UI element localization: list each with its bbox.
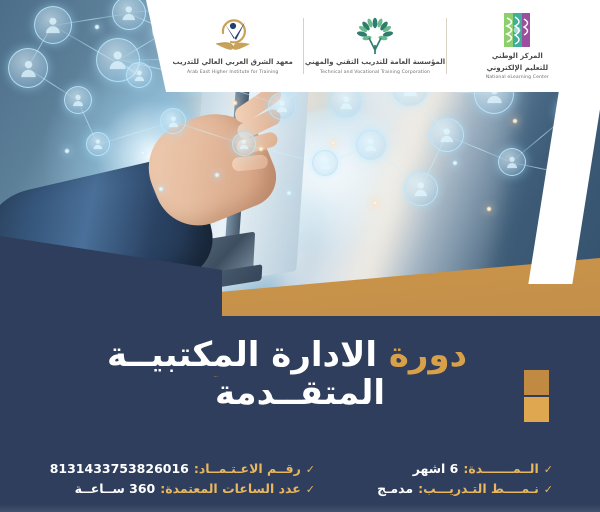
info-label: الــمـــــــدة: [463,461,538,476]
national-elearning-center-logo-icon [500,11,534,49]
course-title-accent-word: دورة [389,335,467,375]
logo-national-elearning-center: المركز الوطني للتعليم الإلكتروني Nationa… [447,0,588,92]
course-title-line-1-rest: الادارة المكتبيــة [107,335,377,375]
light-spark [64,148,70,154]
logo-divider [446,18,447,74]
network-link [371,144,422,189]
course-poster: المركز الوطني للتعليم الإلكتروني Nationa… [0,0,600,512]
info-label: رقــم الاعـتـمــاد: [194,461,301,476]
light-spark [286,190,292,196]
logo-arab-east-institute: معهد الشرق العربي العالي للتدريب Arab Ea… [162,0,303,92]
logo-name-en: National eLearning Center [486,75,549,81]
network-link [98,121,173,145]
light-spark [258,146,264,152]
logo-tvtc: المؤسسة العامة للتدريب التقني والمهني Te… [304,0,445,92]
light-spark [158,186,164,192]
light-spark [140,150,146,156]
course-title: دورة الادارة المكتبيــة المتقــدمة [0,336,600,413]
check-icon: ✓ [544,463,553,476]
check-icon: ✓ [544,483,553,496]
logo-name-ar: المؤسسة العامة للتدريب التقني والمهني [305,58,445,67]
network-link [409,88,447,136]
logo-name-en: Arab East Higher Institute for Training [187,70,278,76]
light-spark [214,172,220,178]
info-value: مدمـج [377,481,413,496]
light-spark [452,160,458,166]
network-link [371,88,411,146]
course-info-bar: ✓ الــمـــــــدة: 6 اشهر ✓ نـمــــط التـ… [0,450,600,512]
tvtc-logo-icon [356,17,394,55]
light-spark [330,140,336,146]
arab-east-institute-logo-icon [211,17,255,55]
logo-name-ar: المركز الوطني [492,52,543,61]
light-spark [486,206,492,212]
info-label: عدد الساعات المعتمدة: [160,481,301,496]
light-spark [512,118,518,124]
network-link [173,121,244,145]
info-value: 360 ســاعــة [75,481,156,496]
light-spark [232,100,238,106]
info-value: 8131433753826016 [50,461,189,476]
bottom-edge-fade [0,504,600,512]
gold-square-upper [524,370,549,395]
info-value: 6 اشهر [413,461,459,476]
check-icon: ✓ [306,483,315,496]
course-title-line-1: دورة الادارة المكتبيــة [0,336,600,374]
network-link [244,144,325,164]
logo-name-ar-2: للتعليم الإلكتروني [487,64,549,73]
info-column-left: ✓ الــمـــــــدة: 6 اشهر ✓ نـمــــط التـ… [315,461,553,496]
light-spark [94,24,100,30]
info-item-duration: ✓ الــمـــــــدة: 6 اشهر [413,461,553,476]
course-title-line-2: المتقــدمة [0,374,600,412]
logo-name-ar: معهد الشرق العربي العالي للتدريب [173,58,293,67]
gold-square-lower [524,397,549,422]
info-item-accredited-hours: ✓ عدد الساعات المعتمدة: 360 ســاعــة [75,481,315,496]
light-spark [372,200,378,206]
info-item-training-mode: ✓ نـمــــط التـدريـــب: مدمـج [377,481,553,496]
logo-divider [303,18,304,74]
info-column-right: ✓ رقــم الاعـتـمــاد: 8131433753826016 ✓… [47,461,315,496]
logo-name-en: Technical and Vocational Training Corpor… [320,70,430,76]
info-label: نـمــــط التـدريـــب: [418,481,539,496]
info-item-accreditation-number: ✓ رقــم الاعـتـمــاد: 8131433753826016 [50,461,315,476]
check-icon: ✓ [306,463,315,476]
